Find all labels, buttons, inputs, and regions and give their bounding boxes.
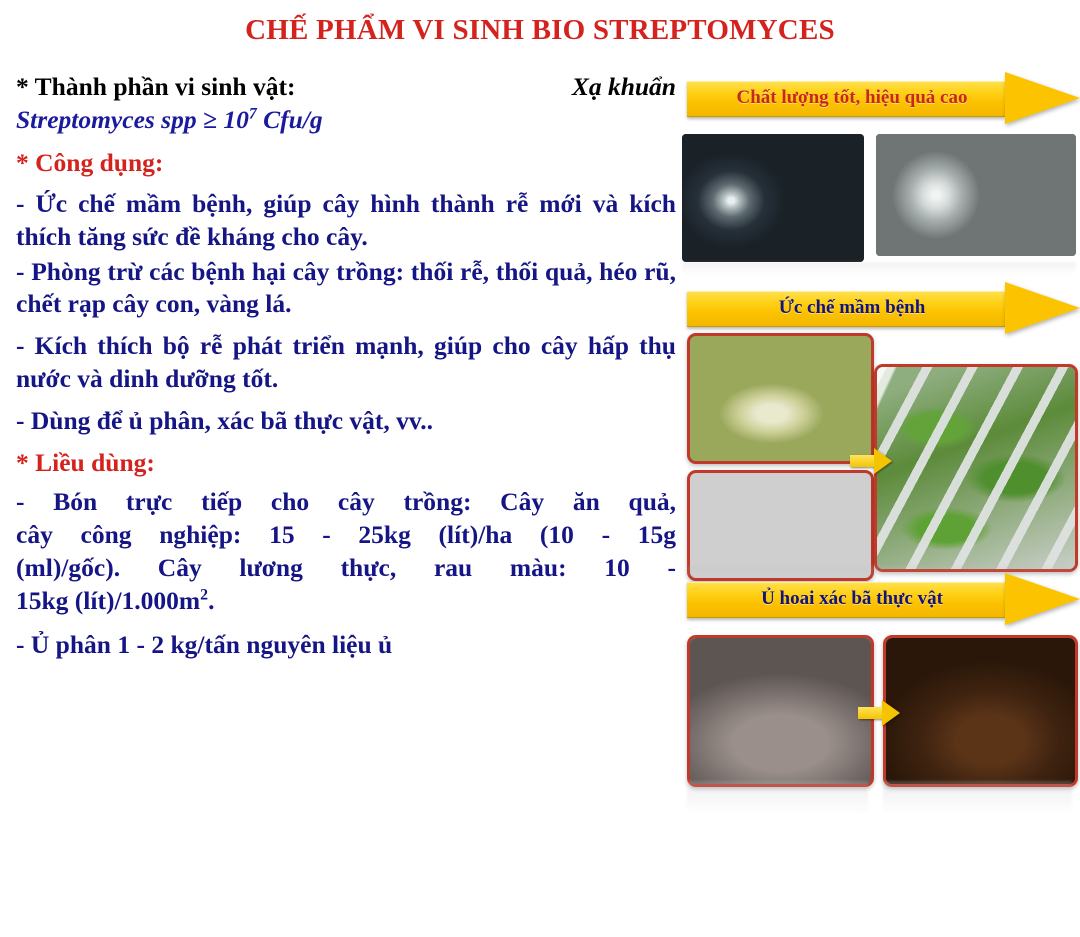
mini-arrow-head-icon <box>882 700 900 726</box>
photo-raw-compost <box>687 635 874 787</box>
banner-label-composting: Ủ hoai xác bã thực vật <box>687 582 1017 616</box>
composition-label: * Thành phần vi sinh vật: <box>16 72 295 102</box>
banner-label-quality: Chất lượng tốt, hiệu quả cao <box>687 81 1017 115</box>
right-media-column: Chất lượng tốt, hiệu quả cao Ức chế mầm … <box>678 0 1080 937</box>
compost-reflection-left <box>687 781 868 815</box>
banner-arrow-quality: Chất lượng tốt, hiệu quả cao <box>687 72 1080 124</box>
photo-finished-compost <box>883 635 1078 787</box>
use-item-3: - Kích thích bộ rễ phát triển mạnh, giúp… <box>16 330 676 396</box>
dosage-heading: * Liều dùng: <box>16 447 676 480</box>
dosage-line-1: - Bón trực tiếp cho cây trồng: Cây ăn qu… <box>16 486 676 519</box>
dosage-line-4-post: . <box>208 586 214 615</box>
dosage-line-3: (ml)/gốc). Cây lương thực, rau màu: 10 - <box>16 552 676 585</box>
dosage-line-2: cây công nghiệp: 15 - 25kg (lít)/ha (10 … <box>16 519 676 552</box>
photo-diseased-lettuce <box>687 333 874 464</box>
composition-value-pre: Streptomyces spp ≥ 10 <box>16 105 249 134</box>
composition-value-post: Cfu/g <box>257 105 323 134</box>
composition-value-exponent: 7 <box>249 106 257 123</box>
petri-dish-streptomyces-colonies-right-image <box>876 134 1076 256</box>
dosage-line-4: 15kg (lít)/1.000m2. <box>16 585 676 618</box>
diseased-chili-plant-image <box>690 473 871 578</box>
compost-reflection-right <box>883 781 1072 815</box>
finished-compost-pile-image <box>886 638 1075 784</box>
dosage-line-4-exponent: 2 <box>200 586 208 603</box>
raw-compost-pile-image <box>690 638 871 784</box>
mini-arrow-head-icon <box>874 448 892 474</box>
composition-value-line2: Streptomyces spp ≥ 107 Cfu/g <box>16 104 676 137</box>
banner-label-pathogen-suppression: Ức chế mầm bệnh <box>687 291 1017 325</box>
petri-reflection <box>682 262 1076 276</box>
diseased-lettuce-rot-image <box>690 336 871 461</box>
dosage-block: - Bón trực tiếp cho cây trồng: Cây ăn qu… <box>16 486 676 662</box>
mini-arrow-shaft <box>858 707 882 719</box>
dosage-line-4-pre: 15kg (lít)/1.000m <box>16 586 200 615</box>
left-text-column: * Thành phần vi sinh vật: Xạ khuẩn Strep… <box>16 72 676 662</box>
petri-dish-streptomyces-colonies-left-image <box>682 134 864 262</box>
photo-petri-dish-right <box>876 134 1076 256</box>
photo-healthy-hydroponic <box>874 364 1078 572</box>
uses-heading: * Công dụng: <box>16 147 676 180</box>
slide-root: CHẾ PHẨM VI SINH BIO STREPTOMYCES * Thàn… <box>0 0 1080 937</box>
healthy-hydroponic-greens-image <box>877 367 1075 569</box>
mini-arrow-shaft <box>850 455 874 467</box>
transition-arrow-icon-crops <box>850 448 892 474</box>
composition-value-line1: Xạ khuẩn <box>572 72 676 102</box>
banner-arrow-pathogen-suppression: Ức chế mầm bệnh <box>687 282 1080 334</box>
photo-diseased-chili <box>687 470 874 581</box>
dosage-line-5: - Ủ phân 1 - 2 kg/tấn nguyên liệu ủ <box>16 629 676 662</box>
composition-line: * Thành phần vi sinh vật: Xạ khuẩn <box>16 72 676 102</box>
transition-arrow-icon-compost <box>858 700 900 726</box>
use-item-4: - Dùng để ủ phân, xác bã thực vật, vv.. <box>16 405 676 438</box>
use-item-1: - Ức chế mầm bệnh, giúp cây hình thành r… <box>16 188 676 254</box>
banner-arrow-composting: Ủ hoai xác bã thực vật <box>687 573 1080 625</box>
photo-petri-dish-left <box>682 134 864 262</box>
use-item-2: - Phòng trừ các bệnh hại cây trồng: thối… <box>16 256 676 322</box>
